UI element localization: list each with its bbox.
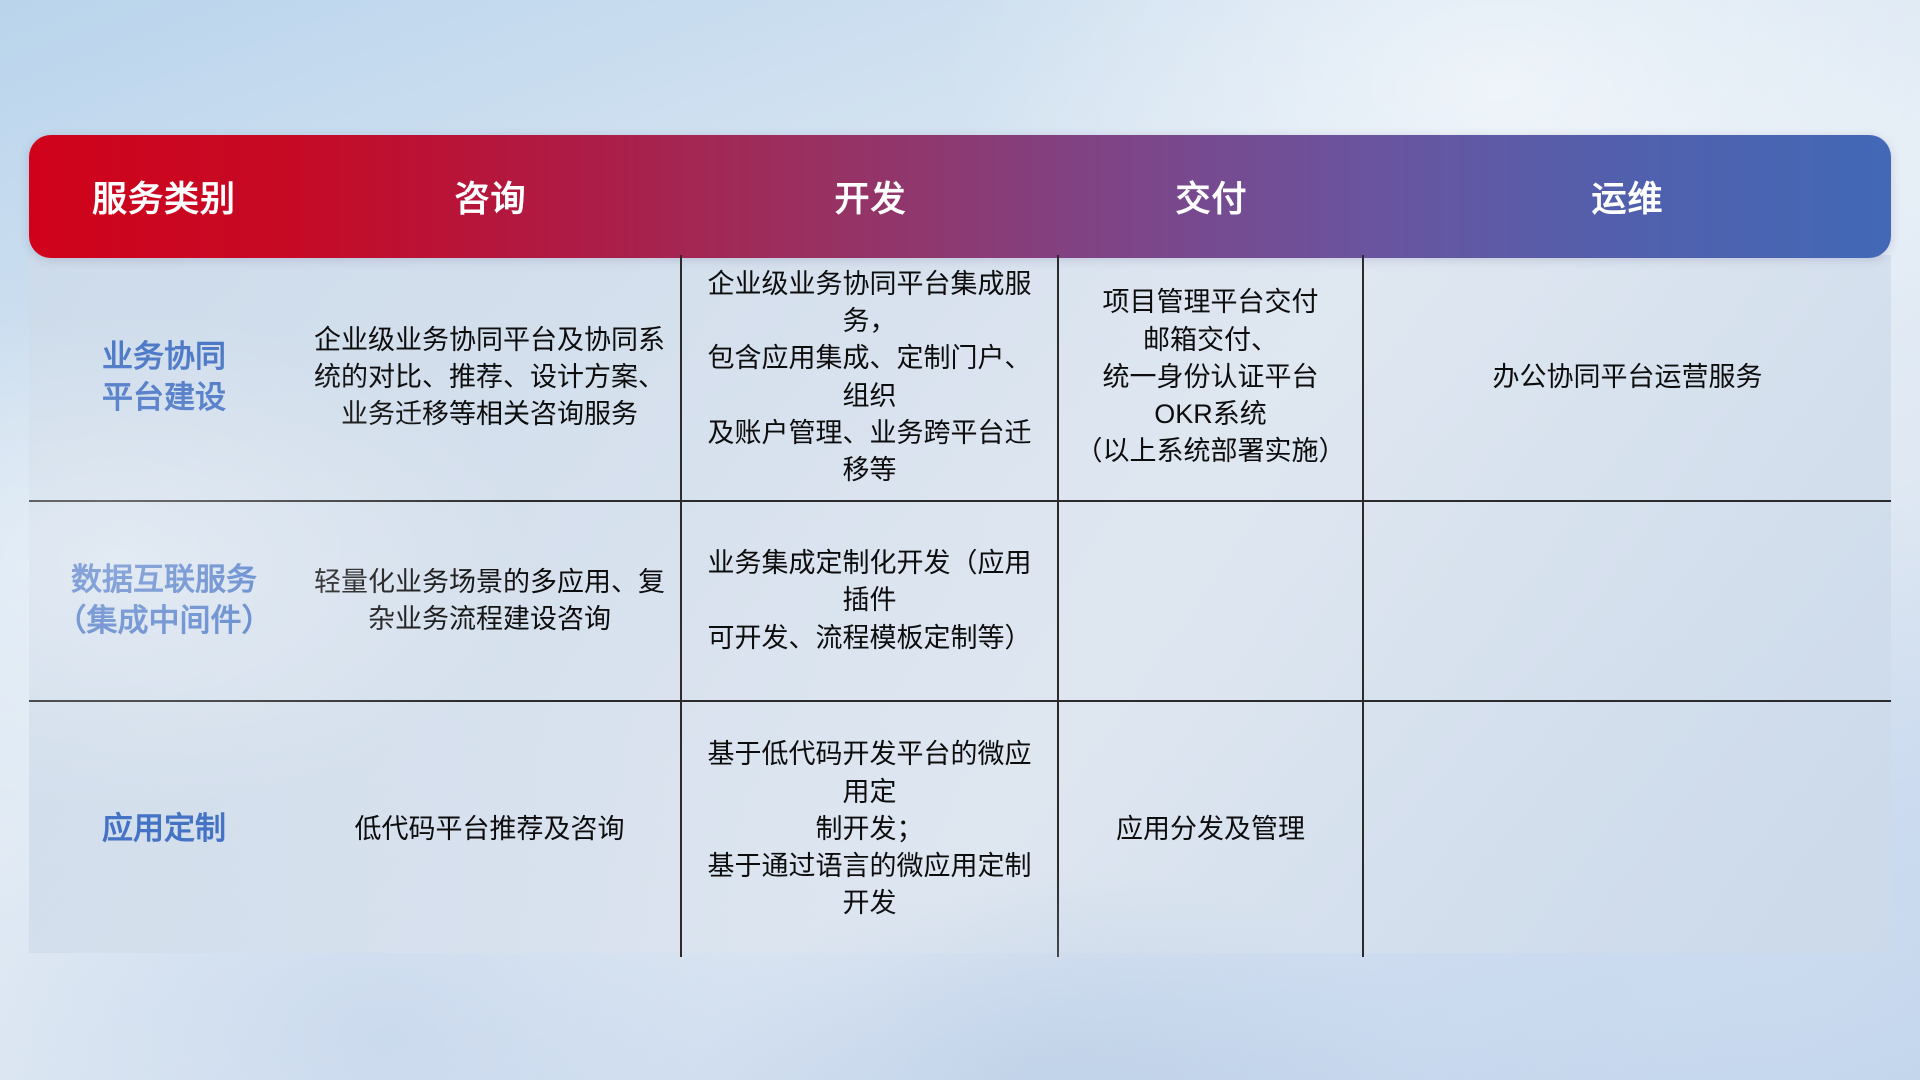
cell-category: 业务协同 平台建设 [29,255,299,500]
cell-category: 应用定制 [29,702,299,957]
cell-operations [1364,702,1891,957]
category-label: 数据互联服务 （集成中间件） [56,560,273,642]
cell-consulting: 低代码平台推荐及咨询 [299,702,682,957]
header-cell-operations: 运维 [1364,171,1891,222]
header-cell-consulting: 咨询 [299,171,682,222]
cell-delivery [1059,502,1364,700]
table-body: 业务协同 平台建设 企业级业务协同平台及协同系 统的对比、推荐、设计方案、 业务… [29,255,1891,957]
cell-category: 数据互联服务 （集成中间件） [29,502,299,700]
header-cell-development: 开发 [682,171,1059,222]
cell-text: 低代码平台推荐及咨询 [355,811,625,848]
cell-consulting: 企业级业务协同平台及协同系 统的对比、推荐、设计方案、 业务迁移等相关咨询服务 [299,255,682,500]
cell-text: 应用分发及管理 [1116,811,1305,848]
table-row: 应用定制 低代码平台推荐及咨询 基于低代码开发平台的微应用定 制开发； 基于通过… [29,702,1891,957]
header-cell-delivery: 交付 [1059,171,1364,222]
header-cell-service-category: 服务类别 [29,171,299,222]
cell-development: 基于低代码开发平台的微应用定 制开发； 基于通过语言的微应用定制开发 [682,702,1059,957]
cell-text: 项目管理平台交付 邮箱交付、 统一身份认证平台 OKR系统 （以上系统部署实施） [1076,284,1346,470]
table-row: 数据互联服务 （集成中间件） 轻量化业务场景的多应用、复 杂业务流程建设咨询 业… [29,502,1891,702]
cell-text: 基于低代码开发平台的微应用定 制开发； 基于通过语言的微应用定制开发 [696,736,1043,922]
cell-development: 业务集成定制化开发（应用插件 可开发、流程模板定制等） [682,502,1059,700]
cell-operations [1364,502,1891,700]
slide-canvas: 服务类别 咨询 开发 交付 运维 业务协同 平台建设 企业级业务协同平台及协同系… [0,0,1920,1080]
table-header-row: 服务类别 咨询 开发 交付 运维 [29,135,1891,258]
service-matrix-table: 服务类别 咨询 开发 交付 运维 业务协同 平台建设 企业级业务协同平台及协同系… [29,135,1891,953]
cell-delivery: 应用分发及管理 [1059,702,1364,957]
cell-delivery: 项目管理平台交付 邮箱交付、 统一身份认证平台 OKR系统 （以上系统部署实施） [1059,255,1364,500]
category-label: 应用定制 [102,809,226,850]
table-row: 业务协同 平台建设 企业级业务协同平台及协同系 统的对比、推荐、设计方案、 业务… [29,255,1891,502]
cell-text: 办公协同平台运营服务 [1493,359,1763,396]
cell-development: 企业级业务协同平台集成服务， 包含应用集成、定制门户、组织 及账户管理、业务跨平… [682,255,1059,500]
cell-text: 轻量化业务场景的多应用、复 杂业务流程建设咨询 [314,564,665,639]
cell-text: 企业级业务协同平台集成服务， 包含应用集成、定制门户、组织 及账户管理、业务跨平… [696,266,1043,490]
cell-text: 业务集成定制化开发（应用插件 可开发、流程模板定制等） [696,545,1043,657]
cell-operations: 办公协同平台运营服务 [1364,255,1891,500]
cell-text: 企业级业务协同平台及协同系 统的对比、推荐、设计方案、 业务迁移等相关咨询服务 [314,322,665,434]
category-label: 业务协同 平台建设 [102,337,226,419]
cell-consulting: 轻量化业务场景的多应用、复 杂业务流程建设咨询 [299,502,682,700]
